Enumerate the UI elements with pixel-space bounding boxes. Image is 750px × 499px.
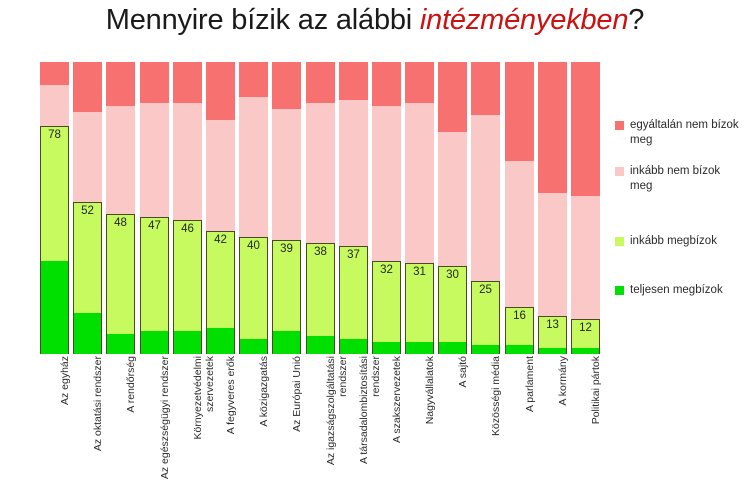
bar-column[interactable]: 30 [438, 62, 467, 354]
segment-strongly-distrust[interactable] [405, 62, 434, 103]
bar-column[interactable]: 47 [140, 62, 169, 354]
bar-column[interactable]: 25 [471, 62, 500, 354]
x-axis-labels: Az egyházAz oktatási rendszerA rendőrség… [40, 356, 600, 496]
segment-fully-trust[interactable] [505, 345, 534, 354]
segment-fully-trust[interactable] [339, 339, 368, 354]
legend-swatch-icon [615, 237, 624, 246]
page-title: Mennyire bízik az alábbi intézményekben? [0, 4, 750, 37]
legend-item[interactable]: inkább megbízok [615, 234, 747, 249]
bar-value-label: 30 [438, 269, 467, 281]
bar-value-label: 16 [505, 310, 534, 322]
segment-rather-trust[interactable] [173, 220, 202, 331]
segment-rather-distrust[interactable] [339, 100, 368, 246]
segment-fully-trust[interactable] [272, 331, 301, 354]
x-axis-label: Környezetvédelmi szervezetek [193, 356, 216, 496]
segment-rather-distrust[interactable] [272, 109, 301, 240]
x-axis-label: A kormány [558, 356, 570, 496]
bar-value-label: 39 [272, 243, 301, 255]
title-prefix: Mennyire bízik az alábbi [106, 4, 420, 36]
segment-rather-distrust[interactable] [505, 161, 534, 307]
x-axis-label: Politikai pártok [591, 356, 603, 496]
segment-strongly-distrust[interactable] [471, 62, 500, 115]
segment-fully-trust[interactable] [372, 342, 401, 354]
segment-rather-trust[interactable] [40, 126, 69, 260]
segment-rather-distrust[interactable] [239, 97, 268, 237]
bar-column[interactable]: 40 [239, 62, 268, 354]
segment-strongly-distrust[interactable] [73, 62, 102, 112]
segment-fully-trust[interactable] [239, 339, 268, 354]
bar-value-label: 78 [40, 129, 69, 141]
segment-strongly-distrust[interactable] [339, 62, 368, 100]
segment-rather-distrust[interactable] [405, 103, 434, 264]
segment-strongly-distrust[interactable] [571, 62, 600, 196]
segment-strongly-distrust[interactable] [173, 62, 202, 103]
segment-strongly-distrust[interactable] [239, 62, 268, 97]
segment-rather-distrust[interactable] [173, 103, 202, 220]
segment-rather-trust[interactable] [140, 217, 169, 331]
x-axis-label: Nagyvállalatok [425, 356, 437, 496]
bar-column[interactable]: 37 [339, 62, 368, 354]
segment-rather-distrust[interactable] [372, 106, 401, 261]
segment-rather-distrust[interactable] [571, 196, 600, 319]
bar-value-label: 42 [206, 234, 235, 246]
x-axis-label: A társadalombiztosítási rendszer [359, 356, 382, 496]
segment-rather-distrust[interactable] [73, 112, 102, 203]
bar-column[interactable]: 46 [173, 62, 202, 354]
legend-swatch-icon [615, 286, 624, 295]
segment-strongly-distrust[interactable] [40, 62, 69, 85]
bar-value-label: 38 [306, 246, 335, 258]
legend-item[interactable]: egyáltalán nem bízok meg [615, 118, 747, 148]
chart-legend: egyáltalán nem bízok meginkább nem bízok… [615, 118, 747, 298]
chart-plot-area: 7852484746424039383732313025161312 [40, 62, 600, 354]
segment-fully-trust[interactable] [173, 331, 202, 354]
bar-column[interactable]: 13 [538, 62, 567, 354]
title-accent: intézményekben [420, 4, 628, 36]
segment-strongly-distrust[interactable] [106, 62, 135, 106]
bar-value-label: 32 [372, 264, 401, 276]
segment-rather-distrust[interactable] [140, 103, 169, 217]
legend-item-label: inkább nem bízok meg [630, 164, 742, 194]
segment-rather-trust[interactable] [239, 237, 268, 339]
bar-value-label: 52 [73, 205, 102, 217]
legend-item-label: egyáltalán nem bízok meg [630, 118, 742, 148]
segment-rather-trust[interactable] [106, 214, 135, 334]
legend-item[interactable]: teljesen megbízok [615, 283, 747, 298]
bar-column[interactable]: 12 [571, 62, 600, 354]
title-suffix: ? [628, 4, 644, 36]
bar-column[interactable]: 16 [505, 62, 534, 354]
segment-fully-trust[interactable] [571, 348, 600, 354]
bar-value-label: 40 [239, 240, 268, 252]
segment-fully-trust[interactable] [106, 334, 135, 354]
x-axis-label: Az egészségügyi rendszer [160, 356, 172, 496]
segment-rather-distrust[interactable] [40, 85, 69, 126]
bar-value-label: 48 [106, 217, 135, 229]
legend-item-label: inkább megbízok [630, 234, 717, 249]
segment-rather-distrust[interactable] [438, 132, 467, 266]
segment-rather-distrust[interactable] [206, 120, 235, 231]
segment-strongly-distrust[interactable] [538, 62, 567, 193]
segment-fully-trust[interactable] [140, 331, 169, 354]
bar-column[interactable]: 32 [372, 62, 401, 354]
segment-strongly-distrust[interactable] [140, 62, 169, 103]
segment-strongly-distrust[interactable] [438, 62, 467, 132]
x-axis-label: Közösségi média [491, 356, 503, 496]
bar-column[interactable]: 39 [272, 62, 301, 354]
x-axis-label: A rendőrség [126, 356, 138, 496]
legend-item[interactable]: inkább nem bízok meg [615, 164, 747, 194]
segment-rather-distrust[interactable] [306, 103, 335, 243]
segment-rather-distrust[interactable] [471, 115, 500, 281]
bar-value-label: 13 [538, 319, 567, 331]
segment-fully-trust[interactable] [40, 261, 69, 354]
x-axis-label: A fegyveres erők [226, 356, 238, 496]
segment-rather-distrust[interactable] [538, 193, 567, 316]
bar-column[interactable]: 52 [73, 62, 102, 354]
x-axis-label: Az oktatási rendszer [93, 356, 105, 496]
segment-fully-trust[interactable] [405, 342, 434, 354]
x-axis-label: Az igazságszolgáltatási rendszer [326, 356, 349, 496]
segment-strongly-distrust[interactable] [372, 62, 401, 106]
segment-fully-trust[interactable] [471, 345, 500, 354]
segment-rather-trust[interactable] [73, 202, 102, 313]
segment-fully-trust[interactable] [538, 348, 567, 354]
bar-value-label: 37 [339, 249, 368, 261]
x-axis-label: A parlament [525, 356, 537, 496]
segment-strongly-distrust[interactable] [306, 62, 335, 103]
segment-fully-trust[interactable] [206, 328, 235, 354]
bar-column[interactable]: 31 [405, 62, 434, 354]
bar-value-label: 31 [405, 266, 434, 278]
bar-value-label: 12 [571, 322, 600, 334]
bar-column[interactable]: 78 [40, 62, 69, 354]
bar-column[interactable]: 48 [106, 62, 135, 354]
x-axis-label: A közigazgatás [259, 356, 271, 496]
legend-swatch-icon [615, 121, 624, 130]
bar-value-label: 47 [140, 220, 169, 232]
segment-strongly-distrust[interactable] [272, 62, 301, 109]
x-axis-label: A szakszervezetek [392, 356, 404, 496]
bar-value-label: 25 [471, 284, 500, 296]
bar-column[interactable]: 38 [306, 62, 335, 354]
x-axis-label: A sajtó [458, 356, 470, 496]
bar-value-label: 46 [173, 223, 202, 235]
legend-swatch-icon [615, 167, 624, 176]
segment-fully-trust[interactable] [438, 342, 467, 354]
segment-fully-trust[interactable] [306, 336, 335, 354]
x-axis-label: Az Európai Unió [292, 356, 304, 496]
segment-fully-trust[interactable] [73, 313, 102, 354]
legend-item-label: teljesen megbízok [630, 283, 723, 298]
x-axis-label: Az egyház [60, 356, 72, 496]
bar-column[interactable]: 42 [206, 62, 235, 354]
segment-rather-distrust[interactable] [106, 106, 135, 214]
segment-strongly-distrust[interactable] [206, 62, 235, 120]
segment-strongly-distrust[interactable] [505, 62, 534, 161]
